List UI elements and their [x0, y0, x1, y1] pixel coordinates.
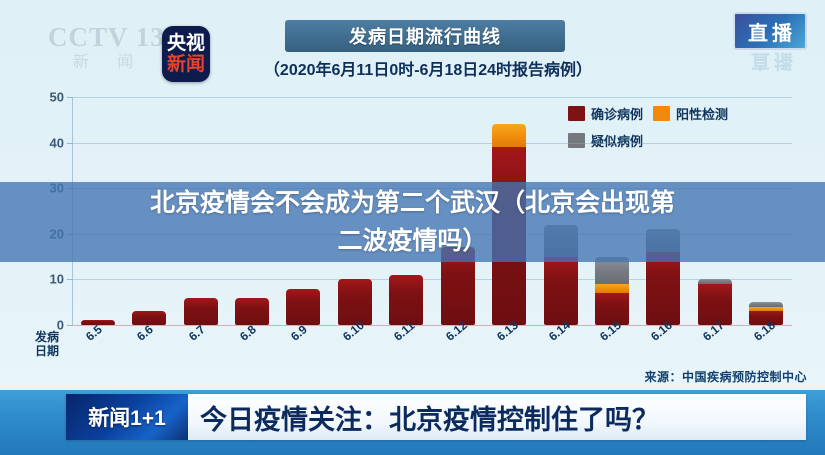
y-axis-tick-mark	[67, 279, 72, 280]
gridline	[72, 97, 792, 98]
bar-segment	[492, 124, 526, 147]
chart-subtitle: （2020年6月11日0时-6月18日24时报告病例）	[218, 56, 638, 80]
y-axis-tick: 40	[50, 135, 64, 150]
chart-bar[interactable]	[595, 257, 629, 325]
y-axis-tick-mark	[67, 143, 72, 144]
chart-bar[interactable]	[132, 311, 166, 325]
y-axis-tick: 50	[50, 90, 64, 105]
y-axis-tick-mark	[67, 97, 72, 98]
chart-source: 来源：中国疾病预防控制中心	[644, 368, 807, 385]
y-axis-tick-mark	[67, 325, 72, 326]
bar-segment	[184, 298, 218, 325]
chart-bar[interactable]	[235, 298, 269, 325]
bar-segment	[286, 289, 320, 325]
x-axis-line	[72, 325, 792, 326]
bar-segment	[338, 279, 372, 325]
cctv-watermark-top: CCTV 13	[48, 22, 170, 52]
news-program-logo: 新闻1+1	[66, 394, 188, 440]
cctv-news-badge: 央视 新闻	[162, 26, 210, 82]
x-axis-caption-line2: 日期	[24, 344, 70, 358]
chart-bar[interactable]	[338, 279, 372, 325]
screenshot-root: CCTV 13 新 闻 央视 新闻 直播 直播 发病日期流行曲线 （2020年6…	[0, 0, 825, 455]
chart-bar[interactable]	[389, 275, 423, 325]
live-badge: 直播	[733, 12, 807, 50]
news-program-logo-label: 新闻1+1	[88, 402, 166, 432]
bar-segment	[235, 298, 269, 325]
chart-bar[interactable]	[698, 279, 732, 325]
live-badge-reflection: 直播	[737, 48, 807, 78]
chart-bar[interactable]	[646, 229, 680, 325]
gridline	[72, 188, 792, 189]
bar-segment	[595, 284, 629, 293]
chart-title: 发病日期流行曲线	[349, 23, 501, 49]
y-axis-tick: 10	[50, 272, 64, 287]
chart-bar[interactable]	[544, 225, 578, 325]
bar-segment	[646, 252, 680, 325]
chart-bar[interactable]	[286, 289, 320, 325]
chart-stage: CCTV 13 新 闻 央视 新闻 直播 直播 发病日期流行曲线 （2020年6…	[0, 0, 825, 390]
x-axis-caption-line1: 发病	[24, 330, 70, 344]
y-axis-line	[72, 97, 73, 325]
y-axis-tick-mark	[67, 234, 72, 235]
bar-segment	[646, 229, 680, 252]
news-headline: 今日疫情关注：北京疫情控制住了吗？	[188, 398, 806, 437]
gridline	[72, 279, 792, 280]
bar-segment	[132, 311, 166, 325]
chart-bar[interactable]	[184, 298, 218, 325]
chart-title-bar: 发病日期流行曲线	[285, 20, 565, 52]
plot-area: 010203040506.56.66.76.86.96.106.116.126.…	[72, 97, 792, 325]
bar-segment	[389, 275, 423, 325]
bar-segment	[544, 225, 578, 257]
cctv-news-badge-line1: 央视	[167, 33, 205, 54]
gridline	[72, 234, 792, 235]
news-banner-strip: 新闻1+1 今日疫情关注：北京疫情控制住了吗？	[66, 394, 806, 440]
chart-bar[interactable]	[492, 124, 526, 325]
y-axis-tick: 20	[50, 226, 64, 241]
bar-segment	[544, 257, 578, 325]
y-axis-tick: 30	[50, 181, 64, 196]
cctv-news-badge-line2: 新闻	[167, 54, 205, 75]
cctv-watermark-bottom: 新 闻	[48, 52, 170, 74]
y-axis-tick-mark	[67, 188, 72, 189]
cctv-watermark: CCTV 13 新 闻	[48, 22, 170, 80]
x-axis-caption: 发病 日期	[24, 330, 70, 358]
gridline	[72, 143, 792, 144]
chart-bar[interactable]	[441, 247, 475, 325]
bar-segment	[441, 247, 475, 325]
bar-segment	[492, 147, 526, 325]
bar-segment	[595, 257, 629, 284]
